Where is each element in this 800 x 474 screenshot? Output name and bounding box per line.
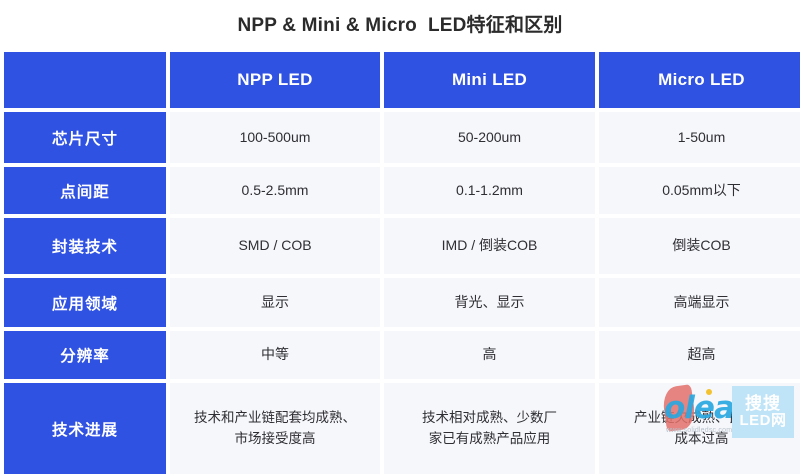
table-cell: 100-500um [170, 112, 380, 163]
table-cell: 背光、显示 [384, 278, 595, 327]
table-cell: 0.5-2.5mm [170, 167, 380, 214]
table-cell: 显示 [170, 278, 380, 327]
table-cell: SMD / COB [170, 218, 380, 274]
table-cell: 超高 [599, 331, 800, 379]
table-header-micro-led: Micro LED [599, 52, 800, 108]
table-header-corner [4, 52, 166, 108]
table-header-npp-led: NPP LED [170, 52, 380, 108]
row-label-application-field: 应用领域 [4, 278, 166, 327]
table-cell: 高 [384, 331, 595, 379]
table-cell-text: 产业链欠成熟、良率低 成本过高 [605, 408, 798, 450]
row-label-tech-progress: 技术进展 [4, 383, 166, 474]
row-label-pixel-pitch: 点间距 [4, 167, 166, 214]
screenshot-root: NPP & Mini & Micro LED特征和区别 NPP LED Mini… [0, 0, 800, 450]
table-cell: 0.05mm以下 [599, 167, 800, 214]
table-cell: IMD / 倒装COB [384, 218, 595, 274]
table-cell: 技术和产业链配套均成熟、 市场接受度高 [170, 383, 380, 474]
table-cell-text: 技术和产业链配套均成熟、 市场接受度高 [176, 408, 374, 450]
table-cell: 0.1-1.2mm [384, 167, 595, 214]
table-cell: 中等 [170, 331, 380, 379]
table-cell: 技术相对成熟、少数厂 家已有成熟产品应用 [384, 383, 595, 474]
page-title: NPP & Mini & Micro LED特征和区别 [0, 10, 800, 37]
comparison-table: NPP LED Mini LED Micro LED 芯片尺寸 100-500u… [4, 52, 796, 450]
table-cell: 50-200um [384, 112, 595, 163]
row-label-chip-size: 芯片尺寸 [4, 112, 166, 163]
table-cell-text: 技术相对成熟、少数厂 家已有成熟产品应用 [390, 408, 589, 450]
row-label-resolution: 分辨率 [4, 331, 166, 379]
table-cell: 倒装COB [599, 218, 800, 274]
row-label-packaging-tech: 封装技术 [4, 218, 166, 274]
table-cell: 产业链欠成熟、良率低 成本过高 [599, 383, 800, 474]
table-cell: 高端显示 [599, 278, 800, 327]
table-cell: 1-50um [599, 112, 800, 163]
table-header-mini-led: Mini LED [384, 52, 595, 108]
